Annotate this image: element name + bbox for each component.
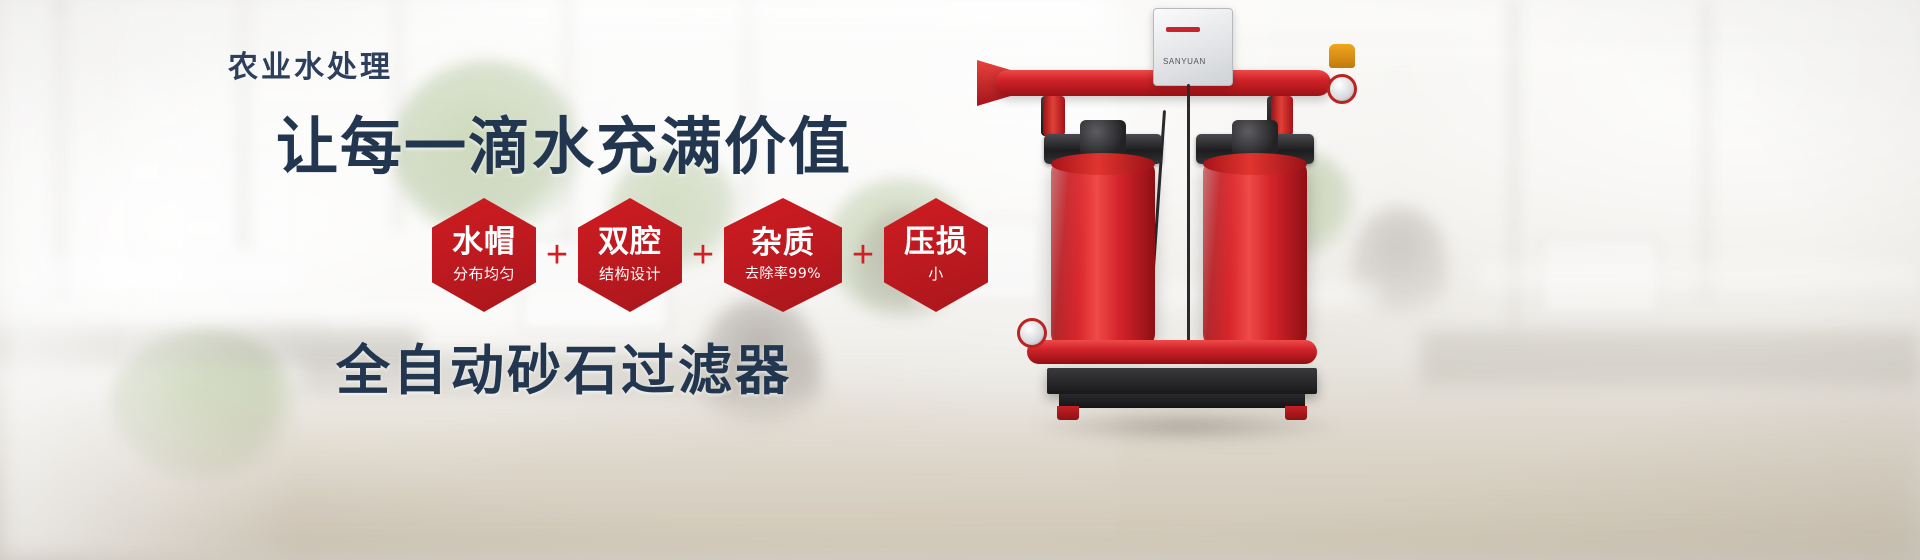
controller-indicator: [1166, 27, 1200, 32]
pressure-gauge-bottom: [1017, 318, 1047, 348]
feature-badge-4-subtitle: 小: [928, 263, 944, 284]
base-skid: [1047, 368, 1317, 394]
feature-badge-3: 杂质 去除率99%: [724, 198, 842, 312]
controller-box: SANYUAN: [1153, 8, 1233, 86]
plus-separator-2: +: [682, 236, 724, 274]
filter-tank-b: [1203, 162, 1307, 348]
feature-badge-2-subtitle: 结构设计: [599, 263, 661, 284]
plus-separator-1: +: [536, 236, 578, 274]
feature-badge-1-title: 水帽: [452, 226, 516, 259]
plus-separator-3: +: [842, 236, 884, 274]
skid-foot-1: [1057, 406, 1079, 420]
control-cable-1: [1187, 84, 1190, 352]
hero-banner: 农业水处理 让每一滴水充满价值 水帽 分布均匀 + 双腔 结构设计 + 杂质 去…: [0, 0, 1920, 560]
banner-headline: 让每一滴水充满价值: [276, 96, 852, 186]
riser-a: [1043, 96, 1065, 136]
feature-badge-1: 水帽 分布均匀: [432, 198, 536, 312]
pressure-gauge-top: [1327, 74, 1357, 104]
banner-subheadline: 全自动砂石过滤器: [336, 326, 792, 405]
filter-tank-a: [1051, 162, 1155, 348]
feature-badge-2-title: 双腔: [598, 226, 662, 259]
banner-eyebrow: 农业水处理: [228, 42, 393, 86]
feature-badge-3-title: 杂质: [751, 227, 815, 260]
base-skid-lower: [1059, 394, 1305, 408]
feature-badge-2: 双腔 结构设计: [578, 198, 682, 312]
controller-brand-label: SANYUAN: [1163, 57, 1206, 66]
skid-foot-2: [1285, 406, 1307, 420]
feature-badge-row: 水帽 分布均匀 + 双腔 结构设计 + 杂质 去除率99% + 压损 小: [432, 198, 988, 312]
feature-badge-1-subtitle: 分布均匀: [453, 263, 515, 284]
bottom-manifold-pipe: [1027, 340, 1317, 364]
air-release-valve-icon: [1329, 44, 1355, 68]
product-image-sand-filter: SANYUAN: [955, 0, 1485, 560]
feature-badge-3-subtitle: 去除率99%: [745, 263, 821, 283]
